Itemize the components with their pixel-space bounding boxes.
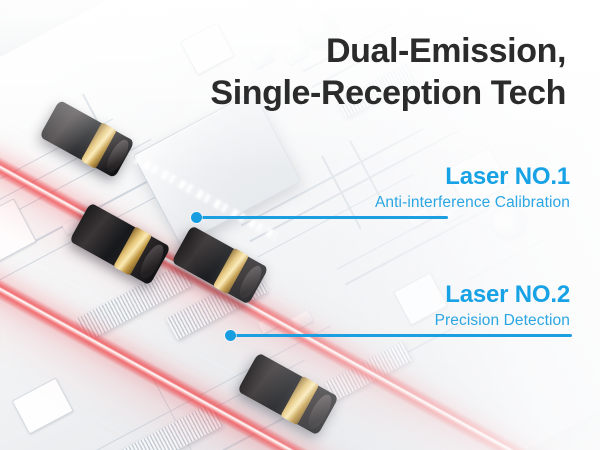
- leader-dot-laser-2: [225, 330, 236, 341]
- callout-laser-1-subtitle: Anti-interference Calibration: [375, 194, 570, 213]
- banner-stage: Dual-Emission, Single-Reception Tech Las…: [0, 0, 600, 450]
- page-title-line-1: Dual-Emission,: [326, 32, 566, 70]
- leader-dot-laser-1: [191, 212, 202, 223]
- callout-laser-1: Laser NO.1 Anti-interference Calibration: [375, 164, 570, 213]
- callout-laser-2-title: Laser NO.2: [435, 282, 570, 308]
- page-title: Dual-Emission, Single-Reception Tech: [146, 30, 566, 114]
- leader-line-laser-2: [230, 334, 572, 337]
- callout-laser-2: Laser NO.2 Precision Detection: [435, 282, 570, 331]
- content-layer: Dual-Emission, Single-Reception Tech Las…: [0, 0, 600, 450]
- callout-laser-1-title: Laser NO.1: [375, 164, 570, 190]
- page-title-line-2: Single-Reception Tech: [146, 72, 566, 114]
- leader-line-laser-1: [196, 216, 448, 219]
- callout-laser-2-subtitle: Precision Detection: [435, 312, 570, 331]
